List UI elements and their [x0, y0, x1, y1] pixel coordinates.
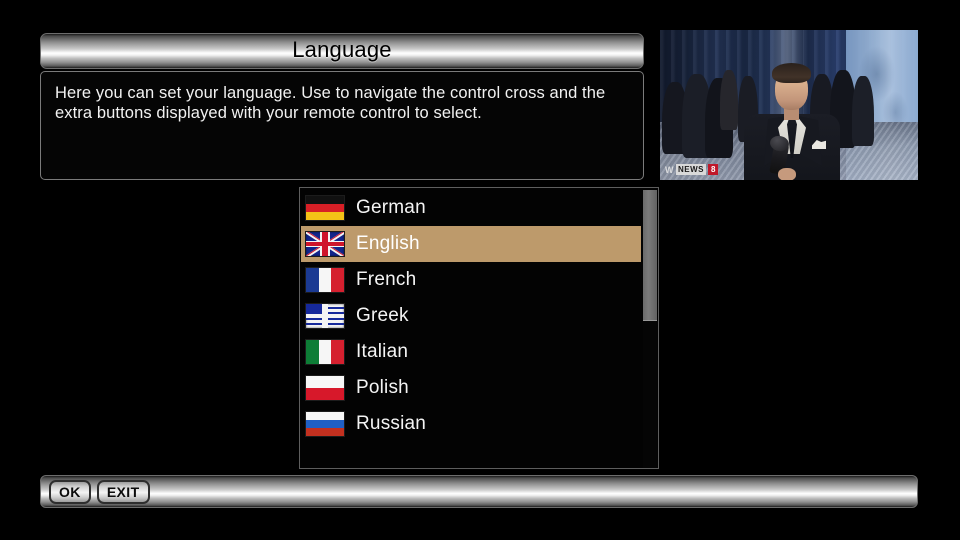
exit-button[interactable]: EXIT: [97, 480, 150, 504]
footer-button-group: OK EXIT: [49, 480, 150, 504]
list-item[interactable]: Italian: [301, 334, 641, 370]
page-title: Language: [292, 37, 391, 63]
list-item[interactable]: Polish: [301, 370, 641, 406]
ru-flag-icon: [305, 411, 345, 437]
language-list-panel[interactable]: German English French: [299, 187, 659, 469]
list-item[interactable]: French: [301, 262, 641, 298]
list-item-label: Italian: [356, 341, 408, 363]
video-reporter-hair: [772, 63, 811, 83]
logo-badge: 8: [708, 164, 718, 175]
video-crowd-figure: [720, 70, 738, 130]
it-flag-icon: [305, 339, 345, 365]
list-item-label: Russian: [356, 413, 426, 435]
list-scrollbar-thumb[interactable]: [643, 190, 657, 321]
gr-flag-icon: [305, 303, 345, 329]
footer-bar: OK EXIT: [40, 475, 918, 508]
list-item-label: English: [356, 233, 420, 255]
video-crowd-figure: [852, 76, 874, 146]
description-panel: Here you can set your language. Use to n…: [40, 71, 644, 180]
list-scrollbar-track[interactable]: [643, 190, 657, 468]
fr-flag-icon: [305, 267, 345, 293]
pl-flag-icon: [305, 375, 345, 401]
logo-prefix: W: [665, 165, 674, 175]
list-item-label: Polish: [356, 377, 409, 399]
list-item[interactable]: Greek: [301, 298, 641, 334]
page-title-bar: Language: [40, 33, 644, 69]
list-item[interactable]: German: [301, 190, 641, 226]
list-item[interactable]: Russian: [301, 406, 641, 442]
list-item-selected[interactable]: English: [301, 226, 641, 262]
tv-settings-screen: Language Here you can set your language.…: [0, 0, 960, 540]
list-item-label: French: [356, 269, 416, 291]
video-reporter-hand: [778, 168, 796, 180]
ok-button[interactable]: OK: [49, 480, 91, 504]
list-item-label: Greek: [356, 305, 409, 327]
language-list: German English French: [301, 190, 641, 442]
logo-wordmark: NEWS: [676, 164, 706, 175]
gb-flag-icon: [305, 231, 345, 257]
video-preview[interactable]: W NEWS 8: [660, 30, 918, 180]
broadcaster-logo: W NEWS 8: [665, 163, 718, 176]
description-text: Here you can set your language. Use to n…: [55, 83, 629, 123]
list-item-label: German: [356, 197, 426, 219]
de-flag-icon: [305, 195, 345, 221]
